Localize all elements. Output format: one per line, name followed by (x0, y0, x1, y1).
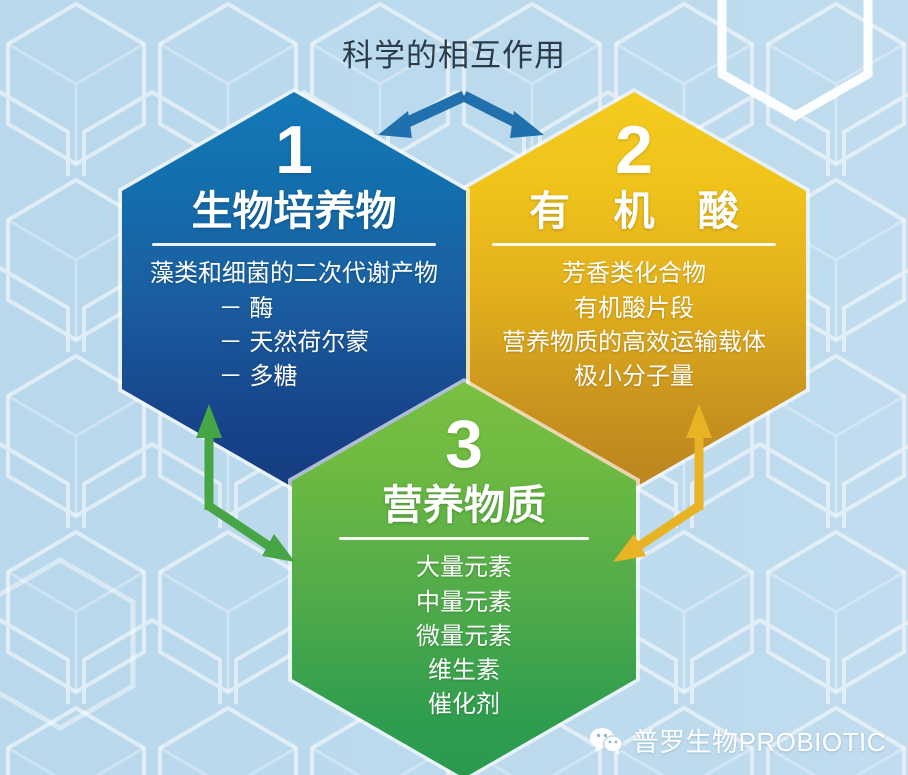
hexagon-3-divider (339, 537, 589, 540)
footer-brand[interactable]: 普罗生物PROBIOTIC (589, 722, 886, 759)
list-item: 中量元素 (306, 586, 622, 620)
page-title: 科学的相互作用 (0, 30, 908, 75)
infographic-canvas: 科学的相互作用 1 生物培养物 藻类和细菌的二次代谢产物 － 酶 － 天然荷尔蒙… (0, 0, 908, 775)
hexagon-3-detail-list: 大量元素 中量元素 微量元素 维生素 催化剂 (306, 551, 622, 721)
hexagon-3-title: 营养物质 (306, 484, 622, 527)
hexagon-1-detail-list: 藻类和细菌的二次代谢产物 － 酶 － 天然荷尔蒙 － 多糖 (136, 257, 452, 393)
list-item: － 酶 (219, 292, 370, 326)
list-item: 大量元素 (306, 551, 622, 585)
wechat-icon (589, 727, 623, 755)
list-item: 藻类和细菌的二次代谢产物 (136, 257, 452, 291)
list-item: － 多糖 (219, 360, 370, 394)
list-item: 芳香类化合物 (476, 257, 792, 291)
hexagon-2-detail-list: 芳香类化合物 有机酸片段 营养物质的高效运输载体 极小分子量 (476, 257, 792, 393)
list-item: 有机酸片段 (476, 292, 792, 326)
list-item: 营养物质的高效运输载体 (476, 326, 792, 360)
list-item: 微量元素 (306, 620, 622, 654)
hexagon-2-title: 有 机 酸 (476, 190, 792, 233)
hexagon-1-divider (152, 243, 436, 246)
list-item: － 天然荷尔蒙 (219, 326, 370, 360)
hexagon-1-title: 生物培养物 (136, 190, 452, 233)
list-item: 维生素 (306, 654, 622, 688)
list-item: 极小分子量 (476, 360, 792, 394)
footer-label: 普罗生物PROBIOTIC (632, 722, 886, 759)
hexagon-2-divider (492, 243, 776, 246)
